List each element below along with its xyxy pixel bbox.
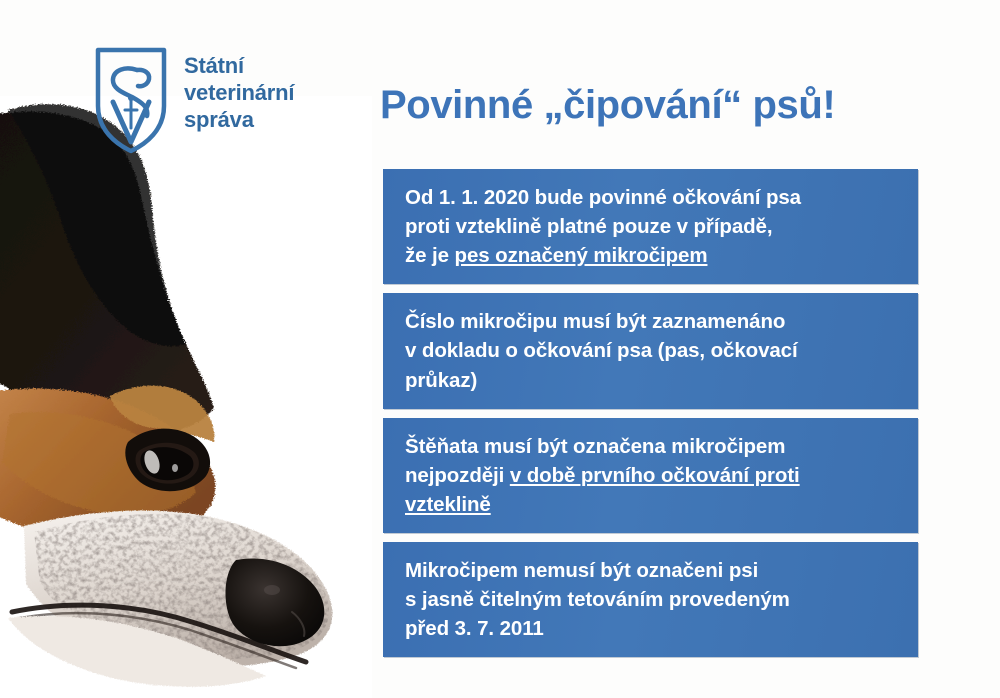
claim-line: průkaz)	[405, 366, 900, 395]
claim-line: s jasně čitelným tetováním provedeným	[405, 585, 900, 614]
claim-box-list: Od 1. 1. 2020 bude povinné očkování psa …	[383, 169, 918, 666]
svs-logo-text: Státní veterinární správa	[184, 52, 294, 133]
claim-box: Štěňata musí být označena mikročipem nej…	[383, 418, 918, 533]
logo-line-3: správa	[184, 106, 294, 133]
claim-box: Číslo mikročipu musí být zaznamenáno v d…	[383, 293, 918, 408]
svs-shield-icon	[92, 44, 170, 156]
claim-line: Od 1. 1. 2020 bude povinné očkování psa	[405, 183, 900, 212]
claim-text-underlined: v době prvního očkování proti	[510, 464, 800, 487]
claim-line: nejpozději v době prvního očkování proti	[405, 461, 900, 490]
claim-line: že je pes označený mikročipem	[405, 241, 900, 270]
claim-line: Štěňata musí být označena mikročipem	[405, 432, 900, 461]
claim-line: vzteklině	[405, 490, 900, 519]
claim-line: Mikročipem nemusí být označeni psi	[405, 556, 900, 585]
claim-line: před 3. 7. 2011	[405, 614, 900, 643]
poster-root: Státní veterinární správa Povinné „čipov…	[0, 0, 1000, 698]
dog-photo-illustration	[0, 96, 372, 698]
dog-profile-photo	[0, 96, 372, 698]
claim-text-plain: nejpozději	[405, 464, 510, 487]
page-title: Povinné „čipování“ psů!	[380, 84, 940, 126]
svs-logo: Státní veterinární správa	[92, 44, 362, 156]
claim-line: Číslo mikročipu musí být zaznamenáno	[405, 307, 900, 336]
claim-line: v dokladu o očkování psa (pas, očkovací	[405, 336, 900, 365]
claim-box: Mikročipem nemusí být označeni psi s jas…	[383, 542, 918, 657]
logo-line-2: veterinární	[184, 79, 294, 106]
claim-line: proti vzteklině platné pouze v případě,	[405, 212, 900, 241]
claim-text-underlined: vzteklině	[405, 493, 491, 516]
claim-box: Od 1. 1. 2020 bude povinné očkování psa …	[383, 169, 918, 284]
claim-text-underlined: pes označený mikročipem	[455, 244, 708, 267]
logo-line-1: Státní	[184, 52, 294, 79]
claim-text-plain: že je	[405, 244, 455, 267]
